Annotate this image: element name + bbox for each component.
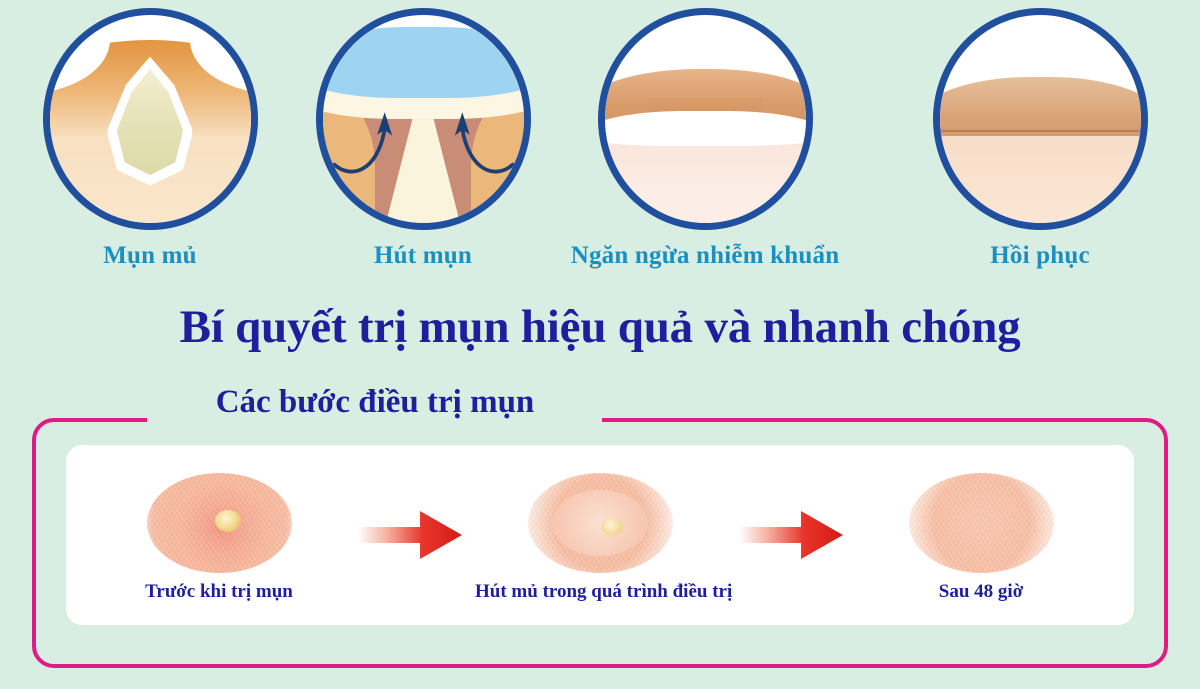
pimple-patch-photo — [528, 473, 673, 573]
process-step-absorb: Hút mụn — [308, 8, 538, 270]
acne-patch — [552, 490, 648, 556]
treatment-step-before: Trước khi trị mụn — [94, 467, 344, 603]
inflamed-pimple-photo — [147, 473, 292, 573]
process-step-label: Ngăn ngừa nhiễm khuẩn — [525, 242, 885, 270]
treatment-step-label: Trước khi trị mụn — [94, 581, 344, 603]
arrow-right-icon — [737, 509, 845, 561]
clear-skin-photo — [909, 473, 1054, 573]
panel-heading: Các bước điều trị mụn — [150, 384, 600, 421]
patch-absorbing-icon — [316, 8, 531, 230]
process-step-pustule: Mụn mủ — [35, 8, 265, 270]
steps-card: Trước khi trị mụn — [66, 445, 1134, 625]
process-step-recover: Hồi phục — [925, 8, 1155, 270]
process-step-label: Mụn mủ — [35, 242, 265, 270]
page-title: Bí quyết trị mụn hiệu quả và nhanh chóng — [0, 302, 1200, 354]
pustule-head — [215, 510, 241, 532]
treatment-step-label: Sau 48 giờ — [856, 581, 1106, 603]
suction-arrows-icon — [323, 15, 524, 223]
recovered-skin-icon — [933, 8, 1148, 230]
process-step-label: Hút mụn — [308, 242, 538, 270]
process-circles-row: Mụn mủ Hút mụn — [0, 0, 1200, 300]
arrow-right-icon — [356, 509, 464, 561]
treatment-step-after: Sau 48 giờ — [856, 467, 1106, 603]
pustule-head — [601, 519, 623, 536]
treatment-step-label: Hút mủ trong quá trình điều trị — [475, 581, 725, 603]
process-step-label: Hồi phục — [925, 242, 1155, 270]
treatment-steps-panel: Các bước điều trị mụn Trước khi trị mụn — [32, 418, 1168, 668]
pustule-cross-section-icon — [43, 8, 258, 230]
treatment-step-during: Hút mủ trong quá trình điều trị — [475, 467, 725, 603]
process-step-prevent: Ngăn ngừa nhiễm khuẩn — [525, 8, 885, 270]
healing-skin-icon — [598, 8, 813, 230]
